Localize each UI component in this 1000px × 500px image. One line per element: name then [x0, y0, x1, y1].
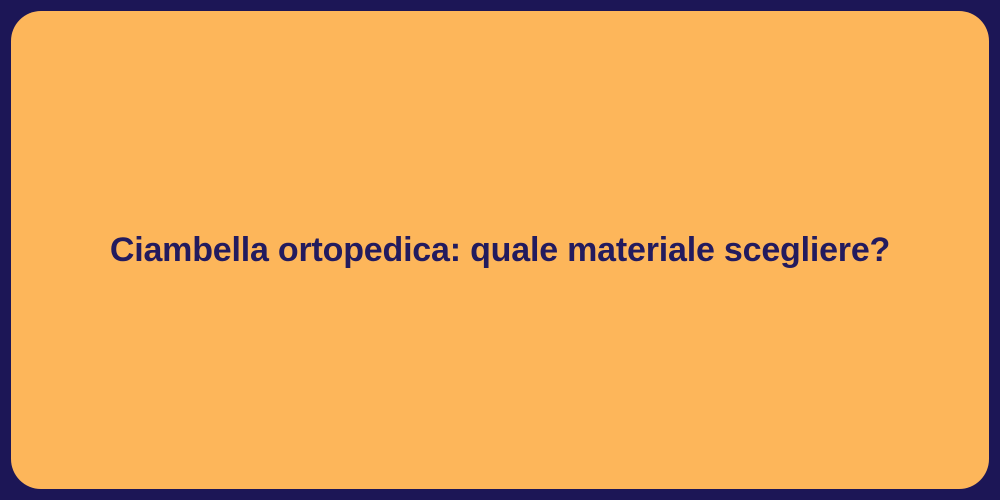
page-root: Ciambella ortopedica: quale materiale sc…: [0, 0, 1000, 500]
article-banner-card: Ciambella ortopedica: quale materiale sc…: [11, 11, 989, 489]
page-title: Ciambella ortopedica: quale materiale sc…: [110, 229, 890, 272]
card-content: Ciambella ortopedica: quale materiale sc…: [11, 229, 989, 272]
